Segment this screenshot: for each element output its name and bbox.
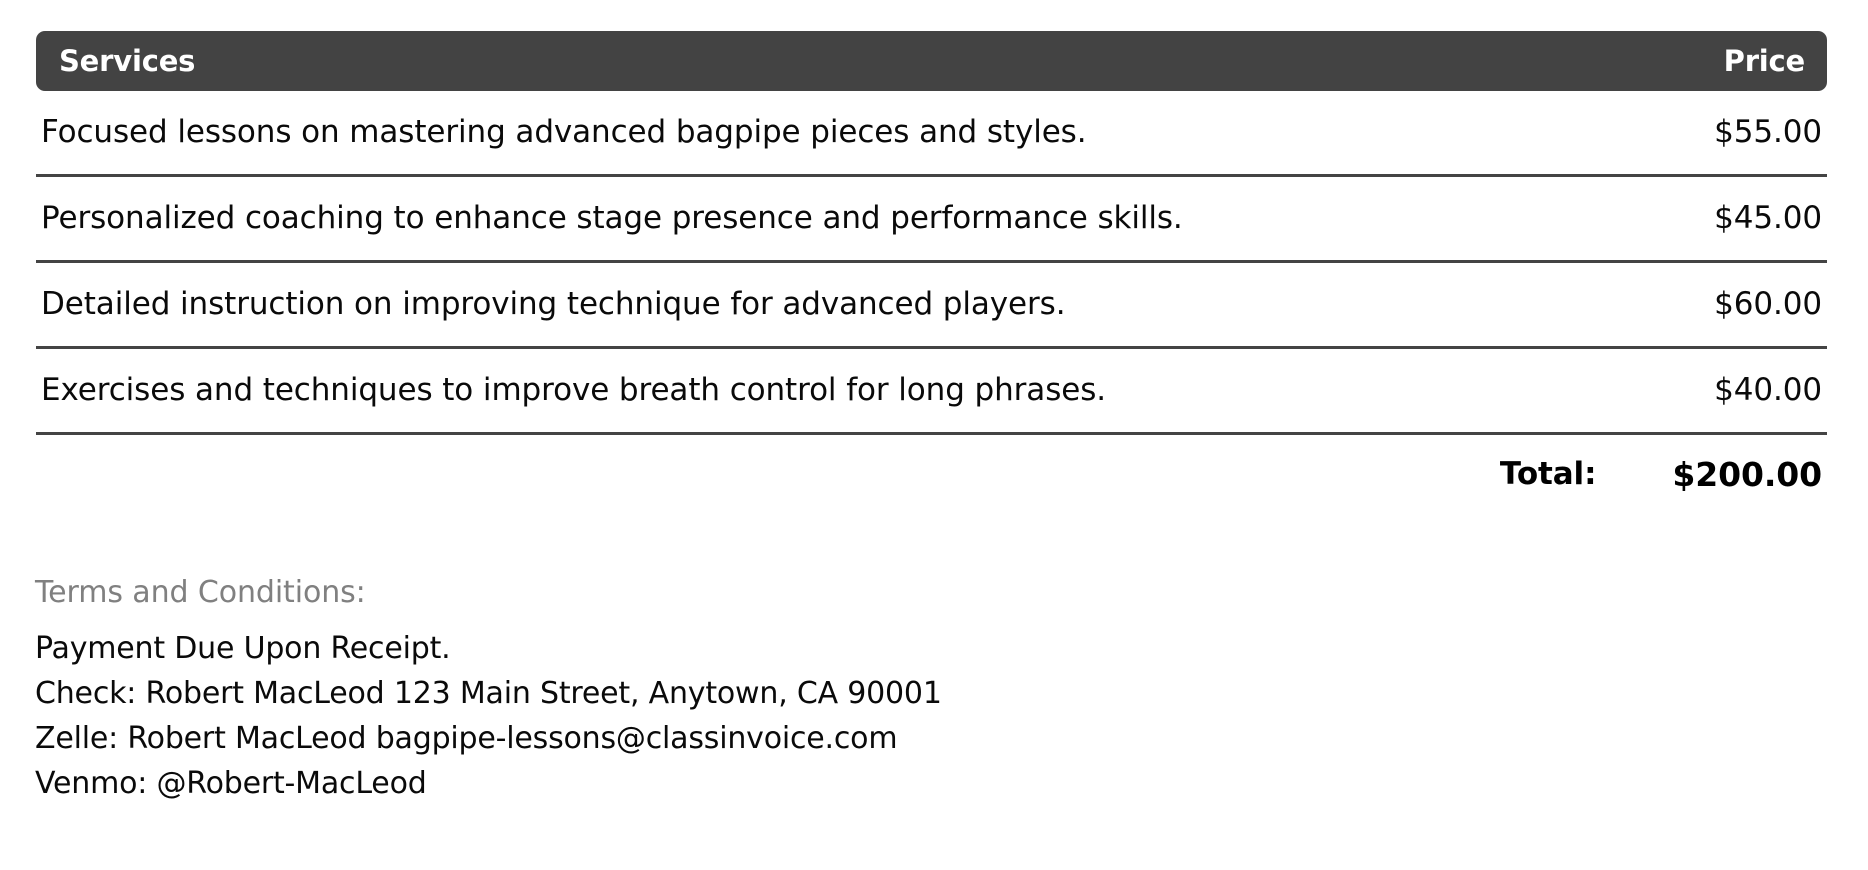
invoice-services-section: Services Price Focused lessons on master… <box>0 0 1868 870</box>
table-row: Detailed instruction on improving techni… <box>36 263 1827 349</box>
table-body: Focused lessons on mastering advanced ba… <box>36 91 1827 435</box>
service-price: $40.00 <box>1714 373 1822 409</box>
services-table: Services Price Focused lessons on master… <box>36 31 1827 513</box>
terms-line-check: Check: Robert MacLeod 123 Main Street, A… <box>35 671 1535 716</box>
service-price: $45.00 <box>1714 201 1822 237</box>
terms-line-venmo: Venmo: @Robert-MacLeod <box>35 761 1535 806</box>
terms-line-zelle: Zelle: Robert MacLeod bagpipe-lessons@cl… <box>35 716 1535 761</box>
service-description: Focused lessons on mastering advanced ba… <box>41 115 1086 151</box>
terms-line-payment: Payment Due Upon Receipt. <box>35 626 1535 671</box>
table-row: Personalized coaching to enhance stage p… <box>36 177 1827 263</box>
table-row: Focused lessons on mastering advanced ba… <box>36 91 1827 177</box>
table-header-row: Services Price <box>36 31 1827 91</box>
terms-title: Terms and Conditions: <box>35 578 1535 608</box>
total-row: Total: $200.00 <box>36 435 1827 513</box>
column-header-price: Price <box>1724 47 1805 76</box>
service-description: Detailed instruction on improving techni… <box>41 287 1065 323</box>
terms-and-conditions: Terms and Conditions: Payment Due Upon R… <box>35 578 1535 806</box>
service-description: Exercises and techniques to improve brea… <box>41 373 1106 409</box>
service-price: $60.00 <box>1714 287 1822 323</box>
column-header-services: Services <box>59 47 195 76</box>
table-row: Exercises and techniques to improve brea… <box>36 349 1827 435</box>
total-label: Total: <box>1500 456 1597 492</box>
total-value: $200.00 <box>1672 455 1822 494</box>
service-price: $55.00 <box>1714 115 1822 151</box>
service-description: Personalized coaching to enhance stage p… <box>41 201 1183 237</box>
